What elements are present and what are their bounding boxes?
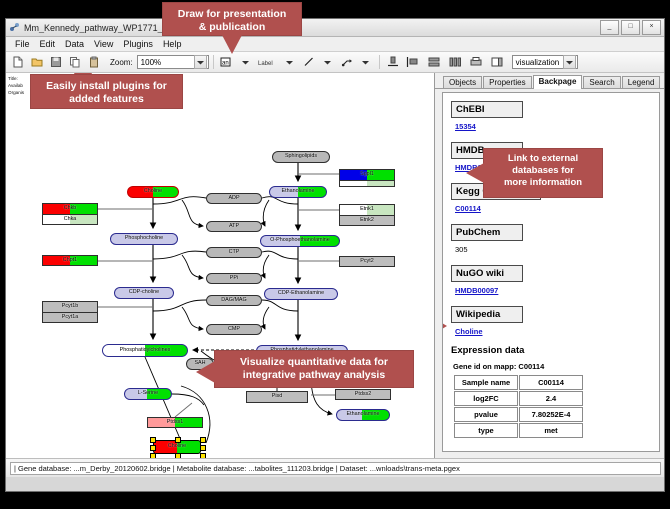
node-label: Pcyt1a — [62, 315, 78, 320]
node-ptdss1[interactable]: Ptdss1 — [147, 417, 203, 428]
label-icon[interactable]: Label — [256, 53, 280, 71]
node-ptdss2[interactable]: Ptdss2 — [335, 389, 391, 400]
draw-callout: Draw for presentation & publication — [162, 2, 302, 36]
align-left-icon[interactable] — [403, 53, 423, 71]
node-pcyt1a[interactable]: Pcyt1a — [42, 312, 98, 323]
line-icon[interactable] — [300, 53, 318, 71]
menu-item-data[interactable]: Data — [60, 39, 89, 49]
status-text: | Gene database: ...m_Derby_20120602.bri… — [10, 462, 661, 475]
draw-callout-line2: & publication — [172, 21, 292, 34]
node-label: Etnk1 — [360, 207, 374, 212]
backpage-header-chebi: ChEBI — [451, 101, 523, 118]
line-dropdown-icon[interactable] — [319, 53, 337, 71]
status-bar: | Gene database: ...m_Derby_20120602.bri… — [6, 458, 664, 477]
node-label: Ptdss1 — [167, 420, 183, 425]
node-label: Sphingolipids — [285, 154, 317, 159]
node-label: Etnk2 — [360, 218, 374, 223]
backpage-link-kegg[interactable]: C00114 — [455, 204, 659, 213]
links-callout-line1: Link to external — [490, 153, 596, 165]
visualize-callout-line1: Visualize quantitative data for — [224, 356, 404, 369]
backpage-link-nugo[interactable]: HMDB00097 — [455, 286, 659, 295]
table-row: pvalue 7.80252E-4 — [454, 407, 583, 422]
draw-callout-arrow — [222, 35, 242, 54]
node-cdp-choline[interactable]: CDP-choline — [114, 287, 174, 299]
svg-text:Label: Label — [258, 61, 273, 67]
node-label: Chpt1 — [63, 258, 77, 263]
links-callout: Link to external databases for more info… — [483, 148, 603, 198]
plugins-callout-line2: added features — [40, 93, 173, 106]
zoom-label: Zoom: — [110, 58, 133, 67]
table-cell-value: C00114 — [519, 375, 583, 390]
node-label: Pcyt2 — [360, 259, 373, 264]
node-etnk1[interactable]: Etnk1 — [339, 204, 395, 215]
node-sgpl1[interactable]: Sgpl1 — [339, 169, 395, 180]
table-cell-key: pvalue — [454, 407, 518, 422]
table-cell-key: log2FC — [454, 391, 518, 406]
table-cell-key: Sample name — [454, 375, 518, 390]
node-phosphatidylcholines[interactable]: Phosphatidylcholines — [102, 344, 188, 357]
node-label: ADP — [228, 196, 239, 201]
node-ppi[interactable]: PPi — [206, 273, 262, 284]
node-label: ATP — [229, 224, 239, 229]
node-pisd[interactable]: Pisd — [246, 391, 308, 403]
node-chka[interactable]: Chka — [42, 214, 98, 225]
node-label: Ptdss2 — [355, 392, 371, 397]
menu-item-edit[interactable]: Edit — [35, 39, 61, 49]
table-cell-value: met — [519, 423, 583, 438]
menu-item-file[interactable]: File — [10, 39, 35, 49]
print-icon[interactable] — [466, 53, 486, 71]
links-callout-line2: databases for — [490, 165, 596, 177]
svg-text:an: an — [222, 61, 229, 67]
toolbar-separator-2 — [379, 55, 380, 69]
backpage-header-nugo: NuGO wiki — [451, 265, 523, 282]
distribute-icon[interactable] — [445, 53, 465, 71]
node-ctp[interactable]: CTP — [206, 247, 262, 258]
table-cell-value: 2.4 — [519, 391, 583, 406]
node-label: Choline — [168, 444, 186, 449]
align-bottom-icon[interactable] — [384, 53, 402, 71]
selection-handle-n[interactable] — [175, 437, 181, 443]
title-bar: Mm_Kennedy_pathway_WP1771_45176.gpml _ □… — [6, 19, 664, 37]
maximize-button[interactable]: □ — [621, 20, 640, 35]
backpage-header-wikipedia: Wikipedia — [451, 306, 523, 323]
menu-bar: File Edit Data View Plugins Help — [6, 37, 664, 52]
save-icon[interactable] — [47, 53, 65, 71]
visualize-callout-line2: integrative pathway analysis — [224, 369, 404, 382]
interaction-icon[interactable] — [338, 53, 356, 71]
side-panel-tabs: Objects Properties Backpage Search Legen… — [435, 73, 664, 89]
menu-item-plugins[interactable]: Plugins — [118, 39, 158, 49]
node-dag-mag[interactable]: DAG/MAG — [206, 295, 262, 306]
pathway-availability-label: Availab — [8, 82, 24, 89]
pathway-title-info: Title: Availab Organis — [8, 75, 24, 96]
tab-legend[interactable]: Legend — [622, 76, 661, 88]
node-label: Sgpl1 — [360, 172, 374, 177]
pathway-organism-label: Organis — [8, 89, 24, 96]
expression-data-title: Expression data — [451, 345, 659, 356]
tab-search[interactable]: Search — [583, 76, 620, 88]
node-label: Ethanolamine — [282, 189, 315, 194]
tab-objects[interactable]: Objects — [443, 76, 482, 88]
node-label: Pcyt1b — [62, 304, 78, 309]
node-label: Choline — [144, 189, 162, 194]
selection-handle-nw[interactable] — [150, 437, 156, 443]
menu-item-help[interactable]: Help — [158, 39, 187, 49]
node-sphingolipids[interactable]: Sphingolipids — [272, 151, 330, 163]
node-label: CMP — [228, 327, 240, 332]
paste-icon[interactable] — [85, 53, 103, 71]
node-label: CTP — [229, 250, 240, 255]
window-title: Mm_Kennedy_pathway_WP1771_45176.gpml — [24, 23, 600, 33]
tool-bar: Zoom: 100% an Label visualization — [6, 52, 664, 73]
visualize-callout: Visualize quantitative data for integrat… — [214, 350, 414, 388]
node-label: PPi — [230, 276, 238, 281]
links-callout-line3: more information — [490, 177, 596, 189]
node-label: L-Serine — [138, 391, 158, 396]
backpage-header-pubchem: PubChem — [451, 224, 523, 241]
node-phosphocholine[interactable]: Phosphocholine — [110, 233, 178, 245]
node-pcyt2[interactable]: Pcyt2 — [339, 256, 395, 267]
menu-item-view[interactable]: View — [89, 39, 118, 49]
toolbar-separator — [213, 55, 214, 69]
selection-handle-se[interactable] — [200, 453, 206, 458]
node-label: Ethanolamine — [347, 412, 380, 417]
selection-handle-e[interactable] — [200, 445, 206, 451]
visualization-chevron-down-icon[interactable] — [563, 55, 576, 69]
node-sgpl1-lower — [339, 180, 395, 187]
sidebar-icon[interactable] — [487, 53, 507, 71]
node-label: O-Phosphoethanolamine — [270, 238, 330, 243]
selection-handle-w[interactable] — [150, 445, 156, 451]
node-label: Chka — [64, 217, 77, 222]
pathvisio-window: Mm_Kennedy_pathway_WP1771_45176.gpml _ □… — [5, 18, 665, 492]
table-row: log2FC 2.4 — [454, 391, 583, 406]
open-folder-icon[interactable] — [28, 53, 46, 71]
window-controls: _ □ × — [600, 20, 661, 35]
table-row: type met — [454, 423, 583, 438]
selection-handle-ne[interactable] — [200, 437, 206, 443]
node-adp[interactable]: ADP — [206, 193, 262, 204]
backpage-link-chebi[interactable]: 15354 — [455, 122, 659, 131]
minimize-button[interactable]: _ — [600, 20, 619, 35]
node-label: CDP-Ethanolamine — [278, 291, 324, 296]
node-cmp[interactable]: CMP — [206, 324, 262, 335]
close-button[interactable]: × — [642, 20, 661, 35]
selection-handle-s[interactable] — [175, 453, 181, 458]
new-file-icon[interactable] — [9, 53, 27, 71]
plugins-callout-arrow — [74, 73, 92, 74]
node-ethanolamine-top[interactable]: Ethanolamine — [269, 186, 327, 198]
backpage-link-wikipedia[interactable]: Choline — [455, 327, 659, 336]
node-label: CDP-choline — [129, 290, 159, 295]
backpage-panel: ChEBI 15354 HMDB HMDB00097 Kegg Compound… — [442, 92, 660, 452]
expression-table: Sample name C00114 log2FC 2.4 pvalue 7.8… — [453, 374, 584, 439]
table-cell-key: type — [454, 423, 518, 438]
node-o-phosphoethanolamine[interactable]: O-Phosphoethanolamine — [260, 235, 340, 247]
visualization-value: visualization — [516, 58, 560, 67]
copy-icon[interactable] — [66, 53, 84, 71]
node-label: Chkb — [64, 206, 77, 211]
datanode-dropdown-icon[interactable] — [237, 53, 255, 71]
node-label: Phosphocholine — [125, 236, 163, 241]
app-icon — [9, 22, 20, 33]
main-content: Title: Availab Organis — [6, 73, 664, 458]
chevron-down-icon[interactable] — [194, 55, 207, 69]
datanode-icon[interactable]: an — [218, 53, 236, 71]
table-cell-value: 7.80252E-4 — [519, 407, 583, 422]
node-label: Phosphatidylcholines — [120, 348, 171, 353]
gene-id-label: Gene id on mapp: C00114 — [453, 362, 659, 371]
node-choline-top[interactable]: Choline — [127, 186, 179, 198]
node-etnk2[interactable]: Etnk2 — [339, 215, 395, 226]
node-atp[interactable]: ATP — [206, 221, 262, 232]
links-callout-arrow — [466, 163, 484, 183]
side-panel: Objects Properties Backpage Search Legen… — [435, 73, 664, 458]
node-ethanolamine-right[interactable]: Ethanolamine — [336, 409, 390, 421]
node-chpt1[interactable]: Chpt1 — [42, 255, 98, 266]
plugins-callout-line1: Easily install plugins for — [40, 80, 173, 93]
pathway-canvas[interactable]: Title: Availab Organis — [6, 73, 435, 458]
table-row: Sample name C00114 — [454, 375, 583, 390]
expression-callout-arrow — [442, 319, 447, 333]
zoom-value: 100% — [141, 58, 161, 67]
visualize-callout-arrow — [196, 361, 215, 383]
interaction-dropdown-icon[interactable] — [357, 53, 375, 71]
zoom-combo[interactable]: 100% — [137, 55, 209, 69]
tab-properties[interactable]: Properties — [483, 76, 531, 88]
backpage-value-pubchem: 305 — [455, 245, 659, 254]
stack-icon[interactable] — [424, 53, 444, 71]
node-label: DAG/MAG — [221, 298, 246, 303]
node-label: Pisd — [272, 394, 283, 399]
node-pcyt1b[interactable]: Pcyt1b — [42, 301, 98, 312]
selection-handle-sw[interactable] — [150, 453, 156, 458]
visualization-combo[interactable]: visualization — [512, 55, 578, 69]
node-chkb[interactable]: Chkb — [42, 203, 98, 214]
label-dropdown-icon[interactable] — [281, 53, 299, 71]
plugins-callout: Easily install plugins for added feature… — [30, 74, 183, 109]
tab-backpage[interactable]: Backpage — [533, 75, 583, 89]
node-l-serine-left[interactable]: L-Serine — [124, 388, 172, 400]
node-cdp-ethanolamine[interactable]: CDP-Ethanolamine — [264, 288, 338, 300]
pathway-title-label: Title: — [8, 75, 24, 82]
draw-callout-line1: Draw for presentation — [172, 8, 292, 21]
